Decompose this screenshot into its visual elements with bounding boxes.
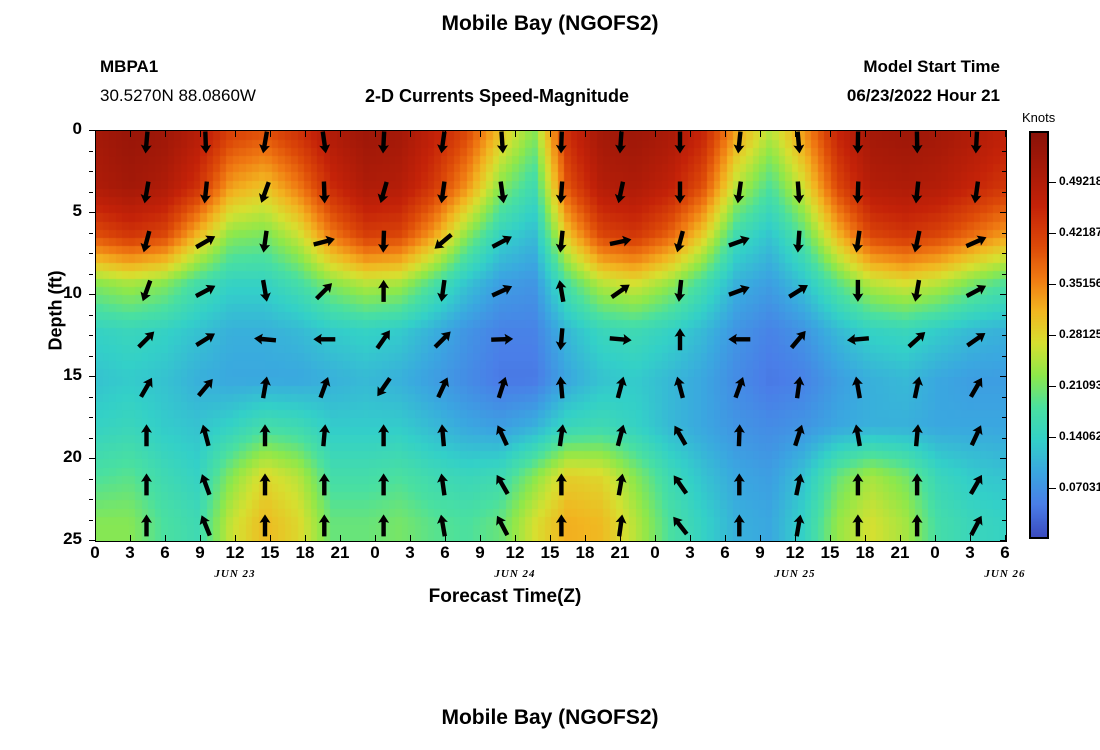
current-vector-arrow [493, 423, 512, 448]
current-vector-arrow [138, 230, 154, 254]
y-axis-tick [1002, 479, 1006, 480]
x-axis-tick [340, 131, 341, 137]
current-vector-arrow [852, 181, 864, 203]
current-vector-arrow [669, 513, 691, 537]
colorbar-title: Knots [1022, 110, 1055, 125]
colorbar-gradient [1031, 133, 1047, 537]
current-vector-arrow [555, 181, 568, 204]
current-vector-arrow [556, 131, 568, 153]
x-axis-tick [305, 535, 306, 541]
current-vector-arrow [911, 131, 922, 153]
current-vector-arrow [197, 472, 215, 496]
y-axis-tick [1000, 376, 1006, 377]
current-vector-arrow [727, 233, 751, 251]
y-axis-tick [1002, 520, 1006, 521]
current-vector-arrow [613, 473, 628, 497]
current-vector-arrow [734, 514, 745, 536]
colorbar-tick [1049, 233, 1056, 234]
current-vector-arrow [494, 375, 511, 399]
current-vector-arrow [260, 424, 271, 446]
current-vector-arrow [675, 132, 686, 154]
current-vector-arrow [912, 473, 923, 495]
x-axis-tick [655, 131, 656, 137]
current-vector-arrow [319, 514, 330, 536]
x-axis-tick [760, 535, 761, 541]
model-start-time-label: Model Start Time [863, 57, 1000, 77]
colorbar-tick [1049, 437, 1056, 438]
x-axis-day-label: JUN 26 [965, 568, 1045, 580]
current-vector-arrow [256, 180, 274, 204]
current-vector-arrow [436, 181, 450, 204]
x-axis-tick-label: 18 [845, 543, 885, 563]
current-vector-arrow [378, 514, 389, 536]
x-axis-tick [515, 535, 516, 541]
x-axis-tick [830, 131, 831, 137]
current-vector-arrow [318, 424, 331, 447]
current-vector-arrow [436, 473, 450, 496]
x-axis-tick [200, 535, 201, 541]
current-vector-arrow [378, 473, 389, 495]
y-axis-tick-label: 0 [42, 119, 82, 139]
x-axis-tick [235, 535, 236, 541]
x-axis-tick-label: 12 [495, 543, 535, 563]
current-vector-arrow [373, 327, 395, 351]
x-axis-tick-label: 3 [110, 543, 150, 563]
y-axis-tick [89, 520, 93, 521]
x-axis-tick [760, 131, 761, 137]
x-axis-tick [970, 535, 971, 541]
x-axis-tick [690, 535, 691, 541]
current-vector-arrow [554, 279, 569, 303]
y-axis-tick [1000, 458, 1006, 459]
x-axis-tick [935, 131, 936, 137]
x-axis-tick-label: 3 [390, 543, 430, 563]
y-axis-tick [89, 417, 93, 418]
current-vector-arrow [911, 424, 924, 447]
x-axis-tick [515, 131, 516, 137]
x-axis-day-label: JUN 23 [195, 568, 275, 580]
x-axis-day-label: JUN 25 [755, 568, 835, 580]
y-axis-tick [1002, 438, 1006, 439]
current-vector-arrow [193, 329, 217, 350]
x-axis-tick-label: 3 [670, 543, 710, 563]
x-axis-tick [165, 131, 166, 137]
current-vector-arrow [436, 279, 450, 302]
current-vector-arrow [258, 230, 272, 253]
colorbar-tick-label: 0.2109375 [1059, 378, 1100, 392]
current-vector-arrow [609, 234, 633, 249]
current-vector-arrow [609, 280, 633, 302]
current-vector-arrow [318, 181, 330, 203]
x-axis-tick [305, 131, 306, 137]
current-vector-arrow [675, 328, 686, 350]
x-axis-tick [795, 535, 796, 541]
x-axis-tick-label: 21 [320, 543, 360, 563]
x-axis-tick-label: 12 [775, 543, 815, 563]
current-vector-arrow [669, 472, 691, 496]
x-axis-tick-label: 6 [145, 543, 185, 563]
current-vector-arrow [852, 131, 863, 153]
y-axis-tick [89, 356, 93, 357]
current-vector-arrow [787, 327, 810, 351]
current-vector-arrow [199, 181, 212, 204]
bottom-page-title: Mobile Bay (NGOFS2) [0, 706, 1100, 730]
x-axis-tick [235, 131, 236, 137]
current-vector-arrow [791, 472, 806, 496]
x-axis-tick [550, 131, 551, 137]
current-vector-arrow [196, 513, 214, 538]
current-vector-arrow [675, 182, 686, 204]
x-axis-tick [690, 131, 691, 137]
current-vector-arrow [556, 473, 567, 495]
current-vector-arrow [613, 375, 629, 399]
x-axis-tick [375, 535, 376, 541]
x-axis-tick [200, 131, 201, 137]
x-axis-tick-label: 12 [215, 543, 255, 563]
x-axis-tick [620, 131, 621, 137]
current-vector-arrow [846, 333, 869, 346]
y-axis-tick [89, 376, 95, 377]
colorbar-tick-label: 0.0703125 [1059, 480, 1100, 494]
y-axis-tick [1002, 356, 1006, 357]
current-vector-arrow [431, 328, 454, 351]
current-vector-arrow [966, 513, 986, 538]
current-vector-arrow [728, 334, 750, 345]
current-vector-arrow [792, 230, 805, 253]
x-axis-tick [900, 535, 901, 541]
x-axis-tick [900, 131, 901, 137]
colorbar-tick [1049, 488, 1056, 489]
x-axis-tick-label: 0 [635, 543, 675, 563]
current-vector-arrow [786, 280, 810, 301]
x-axis-tick [445, 535, 446, 541]
current-vector-arrow [138, 279, 156, 303]
x-axis-tick-label: 0 [915, 543, 955, 563]
current-vector-arrow [198, 423, 214, 447]
x-axis-tick-label: 3 [950, 543, 990, 563]
current-vector-arrow [431, 230, 455, 253]
y-axis-tick [1000, 130, 1006, 131]
current-vector-arrow [730, 375, 748, 399]
x-axis-title: Forecast Time(Z) [0, 586, 1010, 608]
x-axis-tick [130, 535, 131, 541]
current-vector-arrow [909, 230, 924, 254]
x-axis-tick [655, 535, 656, 541]
current-vector-arrow [260, 514, 271, 536]
current-vector-arrow [966, 375, 987, 400]
x-axis-tick [95, 535, 96, 541]
current-vector-arrow [790, 423, 807, 447]
x-axis-tick [865, 131, 866, 137]
y-axis-tick [89, 274, 93, 275]
y-axis-tick [89, 335, 93, 336]
x-axis-tick-label: 6 [705, 543, 745, 563]
y-axis-tick [1002, 151, 1006, 152]
current-vector-arrow [733, 424, 745, 446]
current-vector-arrow [555, 230, 568, 253]
x-axis-tick [340, 535, 341, 541]
y-axis-tick [89, 253, 93, 254]
current-vector-arrow [313, 279, 336, 302]
current-vector-arrow [791, 514, 806, 538]
x-axis-tick-label: 15 [810, 543, 850, 563]
current-vector-arrow [554, 424, 568, 447]
current-vector-arrow [141, 473, 152, 495]
current-vector-arrow [967, 423, 986, 448]
y-axis-title: Depth (ft) [46, 241, 67, 381]
current-vector-arrow [436, 514, 451, 538]
current-vector-arrow [492, 472, 513, 497]
y-axis-tick [89, 438, 93, 439]
x-axis-tick-label: 9 [740, 543, 780, 563]
current-vector-arrow [609, 333, 632, 346]
plot-subtitle: 2-D Currents Speed-Magnitude [365, 86, 629, 107]
current-vector-arrow [734, 473, 745, 495]
y-axis-tick [1002, 335, 1006, 336]
current-vector-arrow [260, 473, 271, 495]
y-axis-tick [1002, 171, 1006, 172]
colorbar-tick-label: 0.421875 [1059, 225, 1100, 239]
current-vector-arrow [495, 181, 509, 204]
current-vector-arrow [964, 281, 989, 301]
current-vector-arrow [733, 131, 746, 154]
colorbar-tick [1049, 386, 1056, 387]
current-vector-arrow [910, 279, 925, 303]
current-vector-arrow [139, 181, 154, 205]
y-axis-tick [1002, 499, 1006, 500]
current-vector-arrow [909, 375, 924, 399]
y-axis-tick [1002, 397, 1006, 398]
x-axis-tick [865, 535, 866, 541]
x-axis-tick-label: 6 [985, 543, 1025, 563]
current-vector-arrow [436, 424, 449, 447]
current-vector-arrow [970, 131, 982, 154]
current-vector-arrow [905, 328, 929, 351]
heatmap-plot-area [95, 130, 1007, 542]
x-axis-tick-label: 9 [180, 543, 220, 563]
current-vector-arrow [964, 232, 989, 251]
y-axis-tick [1000, 294, 1006, 295]
current-vector-arrow [910, 181, 923, 204]
current-vector-arrow [378, 131, 390, 154]
current-vector-arrow [969, 181, 983, 204]
current-vector-arrow [851, 376, 866, 400]
x-axis-tick [1005, 131, 1006, 137]
page-title: Mobile Bay (NGOFS2) [0, 12, 1100, 36]
y-axis-tick [89, 458, 95, 459]
x-axis-tick [375, 131, 376, 137]
colorbar-tick-label: 0.3515625 [1059, 276, 1100, 290]
x-axis-day-label: JUN 24 [475, 568, 555, 580]
current-vector-arrow [614, 514, 628, 537]
y-axis-tick [1002, 253, 1006, 254]
colorbar-tick [1049, 284, 1056, 285]
y-axis-tick [89, 294, 95, 295]
current-vector-arrow [313, 334, 335, 345]
current-vector-arrow [258, 279, 273, 303]
colorbar-tick [1049, 182, 1056, 183]
current-vector-arrow [852, 514, 863, 536]
current-vector-arrow [732, 181, 746, 204]
current-vector-arrow [852, 473, 863, 495]
current-vector-arrow [433, 375, 452, 400]
current-vector-arrow [378, 424, 389, 446]
y-axis-tick-label: 25 [42, 529, 82, 549]
y-axis-tick [89, 315, 93, 316]
current-vector-arrow [912, 514, 923, 536]
colorbar [1029, 131, 1049, 539]
y-axis-tick [89, 192, 93, 193]
current-vector-arrow [852, 280, 863, 302]
x-axis-tick-label: 6 [425, 543, 465, 563]
current-vector-arrow [851, 230, 865, 253]
current-vector-arrow [673, 279, 686, 302]
x-axis-tick-label: 15 [250, 543, 290, 563]
station-coordinates: 30.5270N 88.0860W [100, 86, 256, 106]
current-vector-arrow [373, 375, 395, 399]
x-axis-tick [830, 535, 831, 541]
current-vector-arrow [792, 181, 805, 204]
current-vector-arrow [490, 232, 515, 252]
y-axis-tick-label: 20 [42, 447, 82, 467]
current-vector-arrow [194, 375, 217, 399]
current-vector-arrow [200, 131, 212, 153]
y-axis-tick [89, 212, 95, 213]
x-axis-tick [480, 131, 481, 137]
x-axis-tick-label: 21 [880, 543, 920, 563]
y-axis-tick [1002, 274, 1006, 275]
current-vector-arrow [556, 514, 567, 536]
current-vector-arrow [496, 131, 509, 154]
current-vector-arrow [966, 472, 987, 497]
x-axis-tick [480, 535, 481, 541]
x-axis-tick-label: 18 [285, 543, 325, 563]
x-axis-tick [725, 535, 726, 541]
y-axis-tick [89, 171, 93, 172]
x-axis-tick [725, 131, 726, 137]
y-axis-tick [1000, 540, 1006, 541]
x-axis-tick [550, 535, 551, 541]
colorbar-tick-label: 0.28125 [1059, 327, 1100, 341]
current-vector-arrow [136, 375, 157, 400]
current-vector-arrow [492, 513, 512, 538]
x-axis-tick [585, 131, 586, 137]
current-vector-arrow [613, 181, 628, 205]
current-vector-arrow [792, 376, 806, 399]
x-axis-tick-label: 18 [565, 543, 605, 563]
current-vector-arrow [315, 375, 333, 399]
current-vector-arrow [670, 423, 691, 448]
current-vector-arrow [851, 423, 866, 447]
current-vector-arrow [141, 424, 152, 446]
x-axis-tick-label: 15 [530, 543, 570, 563]
current-vector-arrow [193, 231, 218, 252]
y-axis-tick [89, 499, 93, 500]
chart-page: Mobile Bay (NGOFS2) MBPA1 30.5270N 88.08… [0, 0, 1100, 750]
y-axis-tick [1000, 212, 1006, 213]
y-axis-tick [89, 233, 93, 234]
x-axis-tick [130, 131, 131, 137]
current-vector-arrow [258, 376, 273, 400]
x-axis-tick [95, 131, 96, 137]
current-vector-arrow [727, 282, 751, 300]
model-start-time-value: 06/23/2022 Hour 21 [847, 86, 1000, 106]
y-axis-tick [1002, 192, 1006, 193]
current-vector-arrow [141, 514, 152, 536]
colorbar-tick-label: 0.4921875 [1059, 174, 1100, 188]
colorbar-tick [1049, 335, 1056, 336]
current-vector-arrow [135, 328, 158, 351]
x-axis-tick [970, 131, 971, 137]
current-vector-arrow [193, 281, 218, 301]
current-direction-vectors [96, 131, 1006, 541]
current-vector-arrow [964, 328, 988, 350]
x-axis-tick [270, 535, 271, 541]
current-vector-arrow [613, 423, 629, 447]
x-axis-tick [795, 131, 796, 137]
current-vector-arrow [672, 230, 688, 254]
current-vector-arrow [491, 333, 513, 345]
y-axis-tick [89, 540, 95, 541]
current-vector-arrow [375, 180, 392, 204]
x-axis-tick-label: 9 [460, 543, 500, 563]
y-axis-tick [89, 479, 93, 480]
station-id-label: MBPA1 [100, 57, 158, 77]
x-axis-tick [445, 131, 446, 137]
current-vector-arrow [555, 328, 568, 351]
current-vector-arrow [378, 231, 390, 253]
current-vector-arrow [490, 281, 515, 300]
current-vector-arrow [317, 131, 331, 154]
current-vector-arrow [140, 131, 153, 154]
y-axis-tick [1002, 233, 1006, 234]
current-vector-arrow [319, 473, 330, 495]
x-axis-tick [410, 535, 411, 541]
y-axis-tick [1002, 417, 1006, 418]
y-axis-tick [89, 151, 93, 152]
current-vector-arrow [672, 375, 688, 399]
x-axis-tick [410, 131, 411, 137]
y-axis-tick [1002, 315, 1006, 316]
y-axis-tick [89, 130, 95, 131]
x-axis-tick-label: 0 [355, 543, 395, 563]
current-vector-arrow [378, 280, 389, 302]
x-axis-tick [270, 131, 271, 137]
x-axis-tick [935, 535, 936, 541]
x-axis-tick [585, 535, 586, 541]
x-axis-tick [165, 535, 166, 541]
current-vector-arrow [555, 376, 568, 399]
current-vector-arrow [254, 333, 277, 346]
y-axis-tick-label: 5 [42, 201, 82, 221]
x-axis-tick-label: 21 [600, 543, 640, 563]
colorbar-tick-label: 0.140625 [1059, 429, 1100, 443]
current-vector-arrow [312, 234, 336, 250]
x-axis-tick [620, 535, 621, 541]
current-vector-arrow [436, 131, 450, 154]
y-axis-tick [89, 397, 93, 398]
